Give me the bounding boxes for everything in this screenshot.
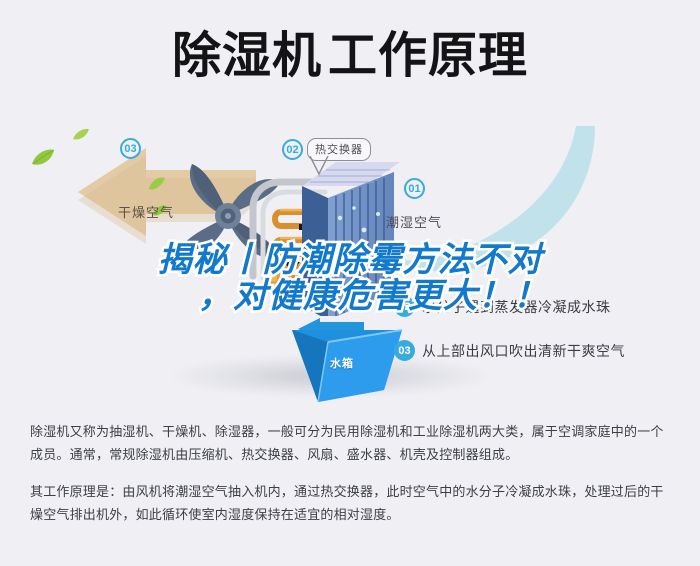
step-line-02-text: 水分子遇到蒸发器冷凝成水珠 bbox=[422, 297, 611, 317]
heat-exchanger-icon bbox=[296, 156, 406, 316]
step-line-03: 03 从上部出风口吹出清新干爽空气 bbox=[394, 340, 625, 361]
page-title: 除湿机工作原理 bbox=[0, 28, 700, 84]
water-tank-label: 水箱 bbox=[330, 355, 354, 371]
badge-01: 01 bbox=[404, 178, 425, 199]
leaf-icon bbox=[30, 148, 56, 173]
badge-02: 02 bbox=[282, 139, 303, 160]
body-paragraph-1: 除湿机又称为抽湿机、干燥机、除湿器，一般可分为民用除湿机和工业除湿机两大类，属于… bbox=[30, 420, 670, 466]
badge-03-step: 03 bbox=[394, 340, 415, 361]
humid-air-label: 潮湿空气 bbox=[386, 212, 442, 231]
step-line-03-text: 从上部出风口吹出清新干爽空气 bbox=[422, 341, 625, 361]
callout-tail-icon bbox=[308, 156, 330, 178]
title-part-b: 工作原理 bbox=[328, 28, 528, 84]
title-part-a: 除湿机 bbox=[172, 28, 322, 84]
leaf-icon bbox=[148, 176, 166, 196]
dry-air-label: 干燥空气 bbox=[118, 202, 174, 221]
body-paragraph-2: 其工作原理是：由风机将潮湿空气抽入机内，通过热交换器，此时空气中的水分子冷凝成水… bbox=[30, 480, 670, 526]
badge-02-step: 02 bbox=[394, 296, 415, 317]
leaf-icon bbox=[72, 128, 90, 147]
step-line-02: 02 水分子遇到蒸发器冷凝成水珠 bbox=[394, 296, 611, 317]
humid-air-swoosh-icon bbox=[390, 126, 600, 276]
dehumidifier-diagram: 水箱 02 热交换器 01 潮湿空气 03 干燥空气 02 水分子遇到蒸发器冷凝… bbox=[0, 118, 700, 408]
infographic-page: 除湿机工作原理 bbox=[0, 0, 700, 566]
badge-03-dry: 03 bbox=[120, 138, 141, 159]
body-copy: 除湿机又称为抽湿机、干燥机、除湿器，一般可分为民用除湿机和工业除湿机两大类，属于… bbox=[30, 420, 670, 526]
